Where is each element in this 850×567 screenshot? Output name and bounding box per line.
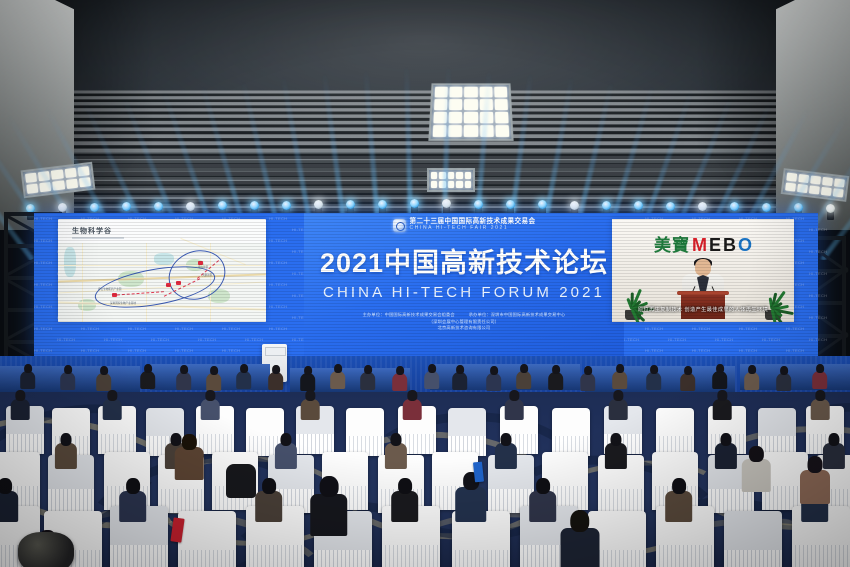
attendee [391,478,419,520]
led-watermark: HI-TECH [739,348,757,353]
attendee [452,365,468,389]
attendee [60,365,76,389]
led-watermark: HI-TECH [34,260,52,265]
attendee-head [748,365,756,374]
attendee-head [210,366,218,375]
attendee-head [650,365,658,374]
attendee-head [408,390,417,401]
led-watermark: HI-TECH [128,326,146,331]
led-watermark: HI-TECH [809,293,827,298]
attendee [403,390,422,419]
attendee-torso [11,399,30,420]
attendee-head [396,366,404,375]
attendee [516,364,532,388]
attendee-head [614,390,623,401]
led-watermark: HI-TECH [762,337,780,342]
led-watermark: HI-TECH [222,348,240,353]
organizer-line-0: 主办单位：中国国际高新技术成果交易会组委会 [363,312,455,319]
attendee-head [816,390,825,401]
attendee-torso [452,372,468,390]
attendee [206,366,222,390]
led-watermark: HI-TECH [809,227,827,232]
attendee-torso [268,372,284,390]
led-watermark: HI-TECH [786,326,804,331]
attendee-torso [776,373,792,391]
attendee-torso [712,371,728,389]
attendee-head [144,364,152,373]
red-booklet-2 [473,462,484,483]
map-water [64,247,76,277]
attendee-torso [300,373,316,391]
presenter-podium [681,291,725,319]
forum-title-en: CHINA HI-TECH FORUM 2021 [323,284,605,301]
attendee-head [584,366,592,375]
attendee-head [182,434,196,450]
attendee-torso [20,371,36,389]
led-watermark: HI-TECH [809,337,827,342]
attendee-torso [424,371,440,389]
attendee [300,366,316,390]
attendee-torso [516,371,532,389]
attendee-torso [103,399,122,420]
attendee-torso [455,487,487,523]
attendee [776,366,792,390]
attendee-torso [742,459,771,491]
map-road [58,265,266,266]
attendee [612,364,628,388]
attendee-head [281,433,292,446]
attendee [605,433,627,467]
attendee [119,478,147,520]
attendee-torso [548,372,564,390]
attendee [55,433,77,467]
attendee-torso [140,371,156,389]
attendee-head [570,510,590,532]
attendee-head [272,365,280,374]
attendee [712,364,728,388]
attendee-head [716,364,724,373]
attendee-head [829,433,840,446]
attendee-torso [715,443,737,468]
attendee-torso [811,399,830,420]
audience-chair [552,408,590,456]
attendee-torso [495,443,517,468]
attendee-head [611,433,622,446]
led-watermark: HI-TECH [198,337,216,342]
attendee-torso [255,491,283,522]
led-watermark: HI-TECH [269,260,287,265]
attendee-torso [744,372,760,390]
attendee-foreground-right [560,510,599,567]
attendee-head [490,366,498,375]
attendee-torso [812,371,828,389]
attendee-torso [301,399,320,420]
forum-title-cn: 2021中国高新技术论坛 [320,241,608,280]
attendee [548,365,564,389]
led-watermark: HI-TECH [269,326,287,331]
attendee-foreground-center [310,476,348,534]
led-watermark: HI-TECH [34,348,52,353]
attendee [360,365,376,389]
attendee-torso [605,443,627,468]
attendee-head [391,433,402,446]
attendee-head [749,446,763,462]
attendee [96,366,112,390]
attendee [255,478,283,520]
attendee-torso [275,443,297,468]
attendee-torso [646,372,662,390]
led-watermark: HI-TECH [645,326,663,331]
main-title-panel: 第二十三届中国国际高新技术成果交易会 CHINA HI-TECH FAIR 20… [304,213,624,356]
attendee-torso [0,491,19,522]
attendee [301,390,320,419]
attendee-white-coat [742,446,771,490]
led-watermark: HI-TECH [692,348,710,353]
led-watermark: HI-TECH [645,348,663,353]
map-marker [176,281,181,285]
organizer-line-3: 北京高新技术咨询有限公司 [363,325,566,332]
attendee-head [398,478,412,494]
attendee [486,366,502,390]
attendee-torso [612,371,628,389]
attendee-torso [713,399,732,420]
attendee-torso [392,373,408,391]
attendee-head [180,365,188,374]
attendee-torso [310,494,348,537]
led-watermark: HI-TECH [245,337,263,342]
led-watermark: HI-TECH [151,337,169,342]
mebo-brand-logo: 美寶 MEBO [654,231,752,256]
map-label: 坪山生物医药产业园 [98,287,121,291]
led-watermark: HI-TECH [809,271,827,276]
attendee-head [428,364,436,373]
attendee [715,433,737,467]
attendee-head [816,364,824,373]
attendee-torso [330,371,346,389]
attendee [385,433,407,467]
led-video-wall: HI-TECHHI-TECHHI-TECHHI-TECHHI-TECHHI-TE… [34,213,818,356]
attendee-head [206,390,215,401]
attendee-head [552,365,560,374]
attendee-torso [665,491,693,522]
attendee-head [64,365,72,374]
attendee-torso [680,373,696,391]
attendee [744,365,760,389]
attendee-torso [580,373,596,391]
led-watermark: HI-TECH [739,326,757,331]
audience-chair [724,511,782,567]
lectern-nameplate [265,347,286,356]
attendee-head [24,364,32,373]
attendee [680,366,696,390]
led-watermark: HI-TECH [34,304,52,309]
attendee [665,478,693,520]
attendee [505,390,524,419]
led-watermark: HI-TECH [269,238,287,243]
attendee [103,390,122,419]
attendee [609,390,628,419]
attendee-head [100,366,108,375]
audience-area [0,360,850,567]
attendee [201,390,220,419]
map-slide-title: 生物科学谷 [72,226,112,236]
attendee [529,478,557,520]
led-watermark: HI-TECH [269,282,287,287]
map-marker [166,283,171,287]
led-watermark: HI-TECH [34,326,52,331]
attendee-torso [385,443,407,468]
attendee [176,365,192,389]
attendee-torso [403,399,422,420]
attendee-torso [529,491,557,522]
attendee-head [520,364,528,373]
attendee-head [510,390,519,401]
attendee-head [319,476,338,497]
led-watermark: HI-TECH [809,315,827,320]
led-watermark: HI-TECH [692,326,710,331]
attendee [811,390,830,419]
audience-chair [346,408,384,456]
led-watermark: HI-TECH [81,348,99,353]
attendee [646,365,662,389]
map-road [82,243,83,322]
led-watermark: HI-TECH [786,348,804,353]
attendee [275,433,297,467]
audience-chair [448,408,486,456]
attendee-far-right [800,456,830,502]
map-canvas: 坪山生物医药产业园深圳国家生物产业基地坪山新区大鹏新区 [58,243,266,322]
attendee-head [334,364,342,373]
led-watermark: HI-TECH [175,326,193,331]
audience-chair [178,511,236,567]
attendee-head [536,478,550,494]
led-watermark: HI-TECH [269,304,287,309]
attendee-head [262,478,276,494]
attendee-head [616,364,624,373]
attendee [140,364,156,388]
attendee-torso [360,372,376,390]
backpack [226,464,256,498]
attendee [0,478,19,520]
attendee [236,364,252,388]
led-watermark: HI-TECH [715,337,733,342]
attendee [11,390,30,419]
attendee-torso [609,399,628,420]
led-watermark: HI-TECH [34,282,52,287]
led-watermark: HI-TECH [668,337,686,342]
fair-logo-en: CHINA HI-TECH FAIR 2021 [410,226,536,231]
attendee [20,364,36,388]
attendee-head [672,478,686,494]
attendee-torso [96,373,112,391]
attendee-head [501,433,512,446]
map-label: 大鹏新区 [202,273,212,277]
map-marker [112,293,117,297]
audience-chair [656,408,694,456]
mebo-brand-cn: 美寶 [654,231,690,256]
organizer-line-1: 承办单位：深圳市中国国际高新技术成果交易中心 [469,312,566,319]
attendee-head [126,478,140,494]
attendee-torso [486,373,502,391]
attendee-head [0,478,12,494]
chtf-emblem-icon [393,219,406,232]
attendee [424,364,440,388]
led-watermark: HI-TECH [175,348,193,353]
attendee [268,365,284,389]
attendee [580,366,596,390]
attendee-head [108,390,117,401]
attendee-torso [391,491,419,522]
attendee-head [808,456,823,473]
attendee-head [721,433,732,446]
led-watermark: HI-TECH [809,249,827,254]
attendee-head [240,364,248,373]
attendee-head [718,390,727,401]
attendee-head [456,365,464,374]
attendee-head [364,365,372,374]
attendee [713,390,732,419]
conference-hall-photo: HI-TECHHI-TECHHI-TECHHI-TECHHI-TECHHI-TE… [0,0,850,567]
attendee-head [304,366,312,375]
led-watermark: HI-TECH [269,216,287,221]
attendee-head [780,366,788,375]
map-label: 深圳国家生物产业基地 [110,301,136,305]
attendee-brown-coat [175,434,204,478]
attendee-head [61,433,72,446]
attendee-torso [800,470,830,504]
map-green [78,299,96,311]
attendee-torso [505,399,524,420]
attendee-torso [201,399,220,420]
attendee-torso [206,373,222,391]
map-water [154,253,174,265]
led-watermark: HI-TECH [222,326,240,331]
handbag [18,532,74,567]
organizer-block: 主办单位：中国国际高新技术成果交易会组委会 承办单位：深圳市中国国际高新技术成果… [363,312,566,332]
attendee-torso [175,447,204,479]
attendee-head [306,390,315,401]
attendee-head [16,390,25,401]
attendee-torso [60,372,76,390]
attendee-torso [176,372,192,390]
attendee [812,364,828,388]
attendee-head [684,366,692,375]
map-slide-underline [72,237,124,239]
attendee-torso [55,443,77,468]
led-watermark: HI-TECH [57,337,75,342]
led-watermark: HI-TECH [81,326,99,331]
attendee-torso [236,371,252,389]
fair-logo: 第二十三届中国国际高新技术成果交易会 CHINA HI-TECH FAIR 20… [393,219,536,232]
attendee-torso [560,528,599,567]
video-subtitle: 原位再生复制技术 创造产生最佳成果的人体再生环境 [612,306,794,313]
attendee-torso [119,491,147,522]
video-feed-panel: 美寶 MEBO 原位再生复制技术 创造产生最佳成果的人体再生环境 [612,219,794,322]
led-watermark: HI-TECH [34,238,52,243]
moving-head-light [826,204,835,220]
led-watermark: HI-TECH [128,348,146,353]
map-slide-panel: 生物科学谷 坪山生物医药产业园深圳国家生物产业基地坪山新区大鹏新区 [58,219,266,322]
attendee [330,364,346,388]
map-label: 坪山新区 [198,265,208,269]
scaffold-post [4,212,8,372]
led-watermark: HI-TECH [104,337,122,342]
attendee [495,433,517,467]
attendee [392,366,408,390]
led-watermark: HI-TECH [34,216,52,221]
